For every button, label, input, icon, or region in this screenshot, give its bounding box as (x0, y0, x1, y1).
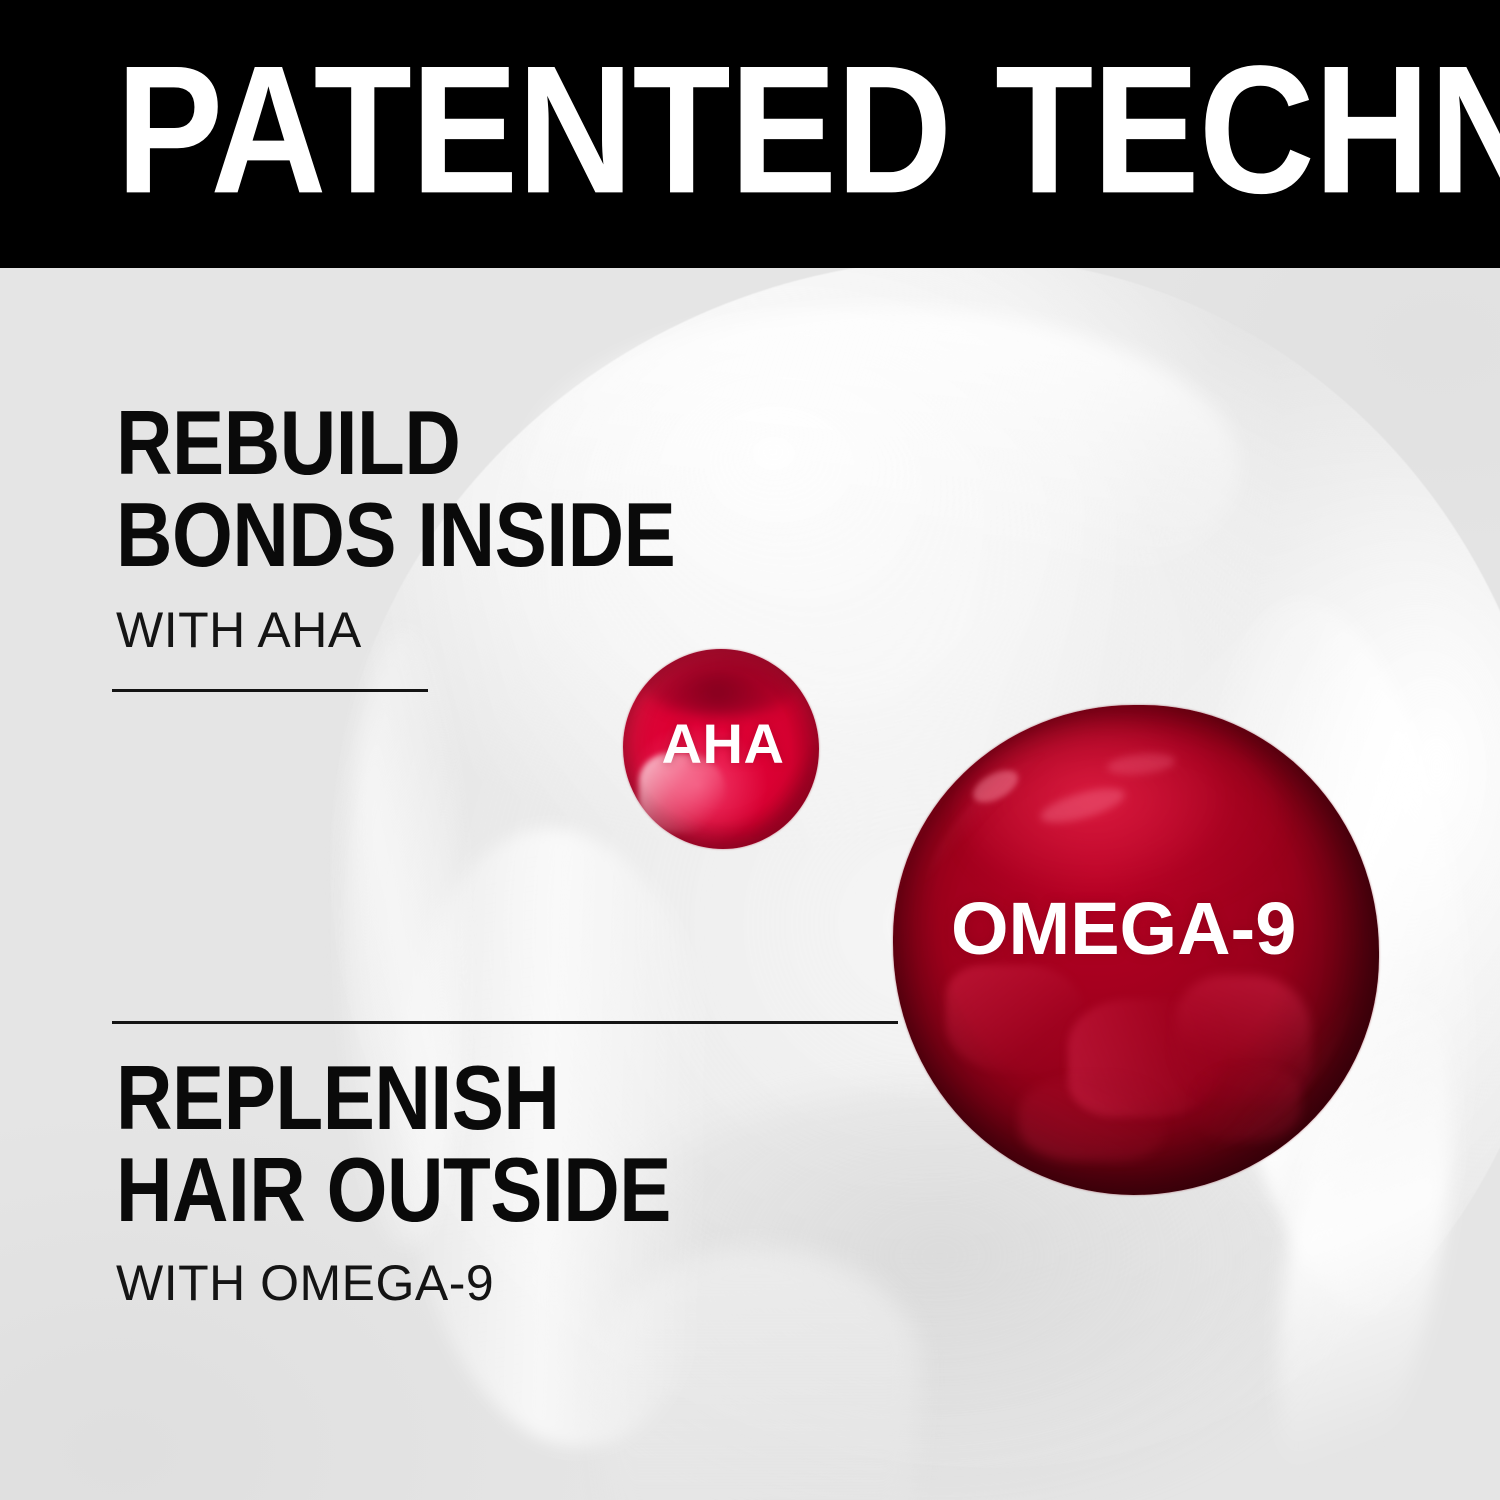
page-title: PATENTED TECHNOLOGY (116, 44, 1313, 216)
header-band: PATENTED TECHNOLOGY (0, 0, 1500, 268)
callout-rebuild-bonds-inside: REBUILD BONDS INSIDE WITH AHA (116, 395, 724, 659)
callout-replenish-hair-outside: REPLENISH HAIR OUTSIDE WITH OMEGA-9 (116, 1050, 719, 1312)
leader-line-omega-9 (112, 1021, 898, 1024)
callout-headline-line2: BONDS INSIDE (116, 487, 675, 585)
callout-headline-line1: REPLENISH (116, 1050, 671, 1148)
omega-9-drop-label: OMEGA-9 (951, 892, 1331, 966)
callout-subtitle: WITH AHA (116, 601, 724, 659)
poster-canvas: OMEGA-9 AHA REBUILD BONDS INSIDE WITH AH… (0, 0, 1500, 1500)
callout-headline-line1: REBUILD (116, 395, 675, 493)
leader-line-aha (112, 689, 428, 692)
aha-drop-label: AHA (643, 716, 803, 772)
callout-headline-line2: HAIR OUTSIDE (116, 1142, 671, 1240)
callout-subtitle: WITH OMEGA-9 (116, 1254, 719, 1312)
